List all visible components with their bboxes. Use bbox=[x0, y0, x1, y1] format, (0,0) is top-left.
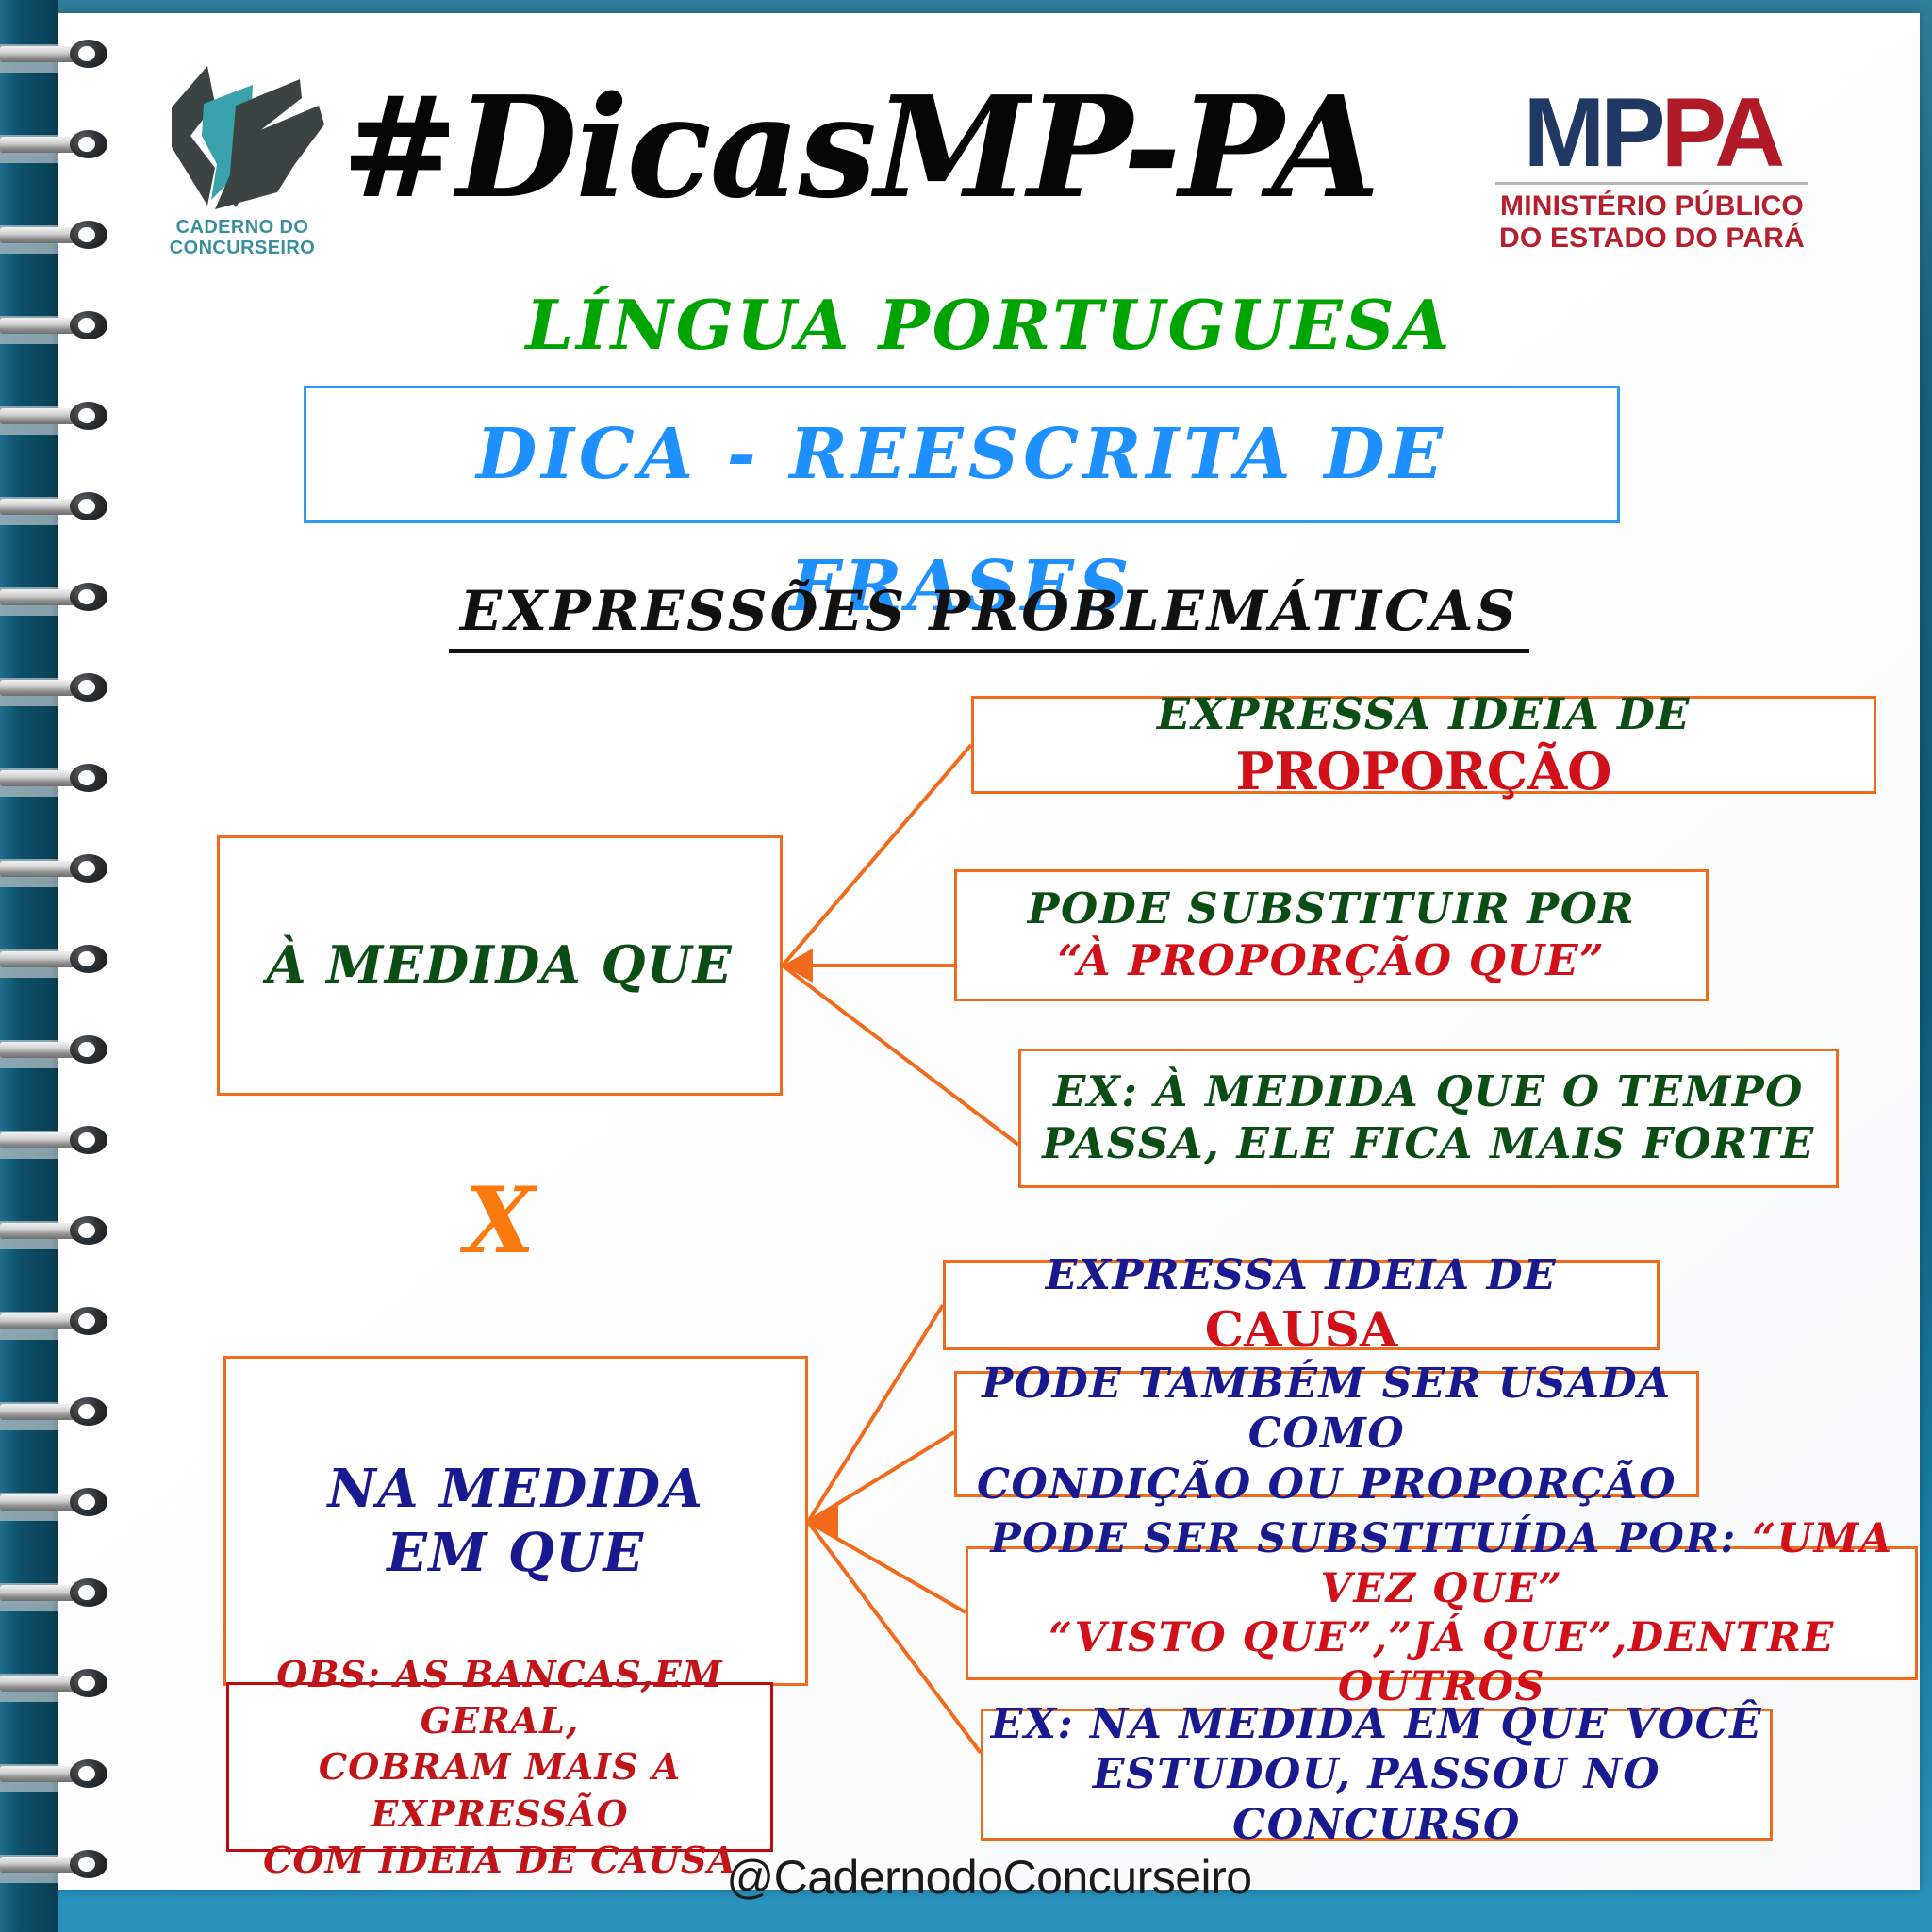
observation-box: OBS: AS BANCAS,EM GERAL, COBRAM MAIS A E… bbox=[226, 1682, 773, 1852]
spine-notch bbox=[0, 225, 58, 254]
spine-notch bbox=[0, 768, 58, 797]
spine-notch bbox=[0, 949, 58, 978]
callout-a1-emphasis: PROPORÇÃO bbox=[1236, 741, 1612, 801]
mppa-pa-text: PA bbox=[1661, 78, 1781, 188]
spine-notch bbox=[0, 587, 58, 616]
callout-a3-text: EX: À MEDIDA QUE O TEMPO PASSA, ELE FICA… bbox=[1021, 1066, 1836, 1170]
spine-notch bbox=[0, 497, 58, 525]
page-content: CADERNO DO CONCURSEIRO #DicasMP-PA MPPA … bbox=[58, 13, 1920, 1890]
spine-notch bbox=[0, 1855, 58, 1883]
spine-notch bbox=[0, 1674, 58, 1702]
caderno-caption-line1: CADERNO DO bbox=[176, 217, 309, 238]
term-b-line1: NA MEDIDA bbox=[327, 1458, 703, 1520]
term-box-a-medida-que: À MEDIDA QUE bbox=[217, 835, 783, 1096]
spine-notch bbox=[0, 1040, 58, 1068]
header: CADERNO DO CONCURSEIRO #DicasMP-PA MPPA … bbox=[58, 13, 1920, 296]
subject-title: LÍNGUA PORTUGUESA bbox=[58, 285, 1920, 365]
term-box-na-medida-em-que: NA MEDIDA EM QUE bbox=[223, 1356, 808, 1686]
callout-a1-text: EXPRESSA IDEIA DE PROPORÇÃO bbox=[974, 687, 1874, 802]
mppa-subtitle-line1: MINISTÉRIO PÚBLICO bbox=[1500, 190, 1804, 222]
caderno-caption-line2: CONCURSEIRO bbox=[170, 238, 315, 258]
spine-notch bbox=[0, 135, 58, 163]
section-heading: EXPRESSÕES PROBLEMÁTICAS bbox=[58, 579, 1920, 643]
caderno-logo-caption: CADERNO DO CONCURSEIRO bbox=[134, 217, 351, 259]
callout-a2-line2: “À PROPORÇÃO QUE” bbox=[1058, 935, 1606, 985]
social-handle: @CadernodoConcurseiro bbox=[58, 1850, 1920, 1905]
callout-b1-prefix: EXPRESSA IDEIA DE bbox=[1046, 1251, 1557, 1299]
spine-notch bbox=[0, 406, 58, 435]
spine-notch bbox=[0, 1493, 58, 1521]
mppa-subtitle: MINISTÉRIO PÚBLICO DO ESTADO DO PARÁ bbox=[1492, 190, 1812, 255]
versus-mark: X bbox=[217, 1167, 783, 1274]
spine-notch bbox=[0, 44, 58, 73]
callout-a-proporcao: EXPRESSA IDEIA DE PROPORÇÃO bbox=[971, 696, 1876, 794]
callout-a2-text: PODE SUBSTITUIR POR “À PROPORÇÃO QUE” bbox=[957, 883, 1706, 987]
arrow-head-a bbox=[783, 949, 813, 983]
callout-b-condicao: PODE TAMBÉM SER USADA COMO CONDIÇÃO OU P… bbox=[954, 1371, 1699, 1497]
brand-title: #DicasMP-PA bbox=[341, 65, 1341, 229]
spine-notch bbox=[0, 1402, 58, 1430]
mppa-logo: MPPA MINISTÉRIO PÚBLICO DO ESTADO DO PAR… bbox=[1492, 87, 1812, 256]
notebook-spine bbox=[0, 0, 58, 1932]
callout-b1-emphasis: CAUSA bbox=[1205, 1301, 1398, 1359]
callout-b4-text: EX: NA MEDIDA EM QUE VOCÊ ESTUDOU, PASSO… bbox=[983, 1699, 1770, 1851]
mppa-mp-text: MP bbox=[1524, 78, 1661, 188]
callout-b2-line2: CONDIÇÃO OU PROPORÇÃO bbox=[977, 1461, 1676, 1509]
spine-notch bbox=[0, 859, 58, 887]
callout-a2-line1: PODE SUBSTITUIR POR bbox=[1028, 883, 1636, 933]
arrow-head-b bbox=[808, 1505, 838, 1539]
callout-a-substituicao: PODE SUBSTITUIR POR “À PROPORÇÃO QUE” bbox=[954, 869, 1709, 1001]
callout-b-causa: EXPRESSA IDEIA DE CAUSA bbox=[943, 1260, 1660, 1350]
caderno-do-concurseiro-logo: CADERNO DO CONCURSEIRO bbox=[134, 49, 351, 256]
term-b-label: NA MEDIDA EM QUE bbox=[226, 1457, 805, 1586]
poster-canvas: CADERNO DO CONCURSEIRO #DicasMP-PA MPPA … bbox=[0, 0, 1932, 1932]
callout-b3-prefix: PODE SER SUBSTITUÍDA POR: bbox=[990, 1515, 1752, 1562]
spine-notch bbox=[0, 1131, 58, 1159]
mppa-wordmark: MPPA bbox=[1492, 87, 1812, 180]
observation-text: OBS: AS BANCAS,EM GERAL, COBRAM MAIS A E… bbox=[229, 1651, 770, 1884]
mppa-subtitle-line2: DO ESTADO DO PARÁ bbox=[1499, 223, 1805, 254]
observation-line1: OBS: AS BANCAS,EM GERAL, bbox=[276, 1653, 722, 1742]
callout-b2-text: PODE TAMBÉM SER USADA COMO CONDIÇÃO OU P… bbox=[957, 1359, 1696, 1511]
callout-b3-text: PODE SER SUBSTITUÍDA POR: “UMA VEZ QUE” … bbox=[968, 1514, 1915, 1712]
spine-notch bbox=[0, 1583, 58, 1611]
callout-b4-line2: ESTUDOU, PASSOU NO CONCURSO bbox=[1093, 1750, 1660, 1849]
spine-notch bbox=[0, 678, 58, 706]
callout-a3-line2: PASSA, ELE FICA MAIS FORTE bbox=[1042, 1118, 1815, 1168]
callout-a-exemplo: EX: À MEDIDA QUE O TEMPO PASSA, ELE FICA… bbox=[1018, 1049, 1839, 1188]
dica-banner: DICA - REESCRITA DE FRASES bbox=[304, 386, 1620, 523]
spine-notch bbox=[0, 316, 58, 344]
spine-notch bbox=[0, 1221, 58, 1249]
open-book-icon bbox=[134, 49, 351, 214]
term-a-label: À MEDIDA QUE bbox=[220, 934, 780, 997]
callout-b1-text: EXPRESSA IDEIA DE CAUSA bbox=[946, 1250, 1657, 1361]
callout-a1-prefix: EXPRESSA IDEIA DE bbox=[1157, 688, 1691, 739]
section-heading-label: EXPRESSÕES PROBLEMÁTICAS bbox=[449, 579, 1529, 653]
term-b-line2: EM QUE bbox=[387, 1522, 644, 1584]
callout-b2-line1: PODE TAMBÉM SER USADA COMO bbox=[982, 1360, 1672, 1459]
observation-line2: COBRAM MAIS A EXPRESSÃO bbox=[319, 1745, 681, 1834]
spine-notch bbox=[0, 1764, 58, 1792]
callout-b3-emphasis2: “VISTO QUE”,”JÁ QUE”,DENTRE OUTROS bbox=[1049, 1614, 1835, 1710]
spine-notch bbox=[0, 1312, 58, 1340]
callout-a3-line1: EX: À MEDIDA QUE O TEMPO bbox=[1053, 1066, 1804, 1116]
callout-b-exemplo: EX: NA MEDIDA EM QUE VOCÊ ESTUDOU, PASSO… bbox=[981, 1709, 1773, 1841]
callout-b4-line1: EX: NA MEDIDA EM QUE VOCÊ bbox=[991, 1700, 1762, 1748]
callout-b-substituicao: PODE SER SUBSTITUÍDA POR: “UMA VEZ QUE” … bbox=[966, 1546, 1918, 1680]
